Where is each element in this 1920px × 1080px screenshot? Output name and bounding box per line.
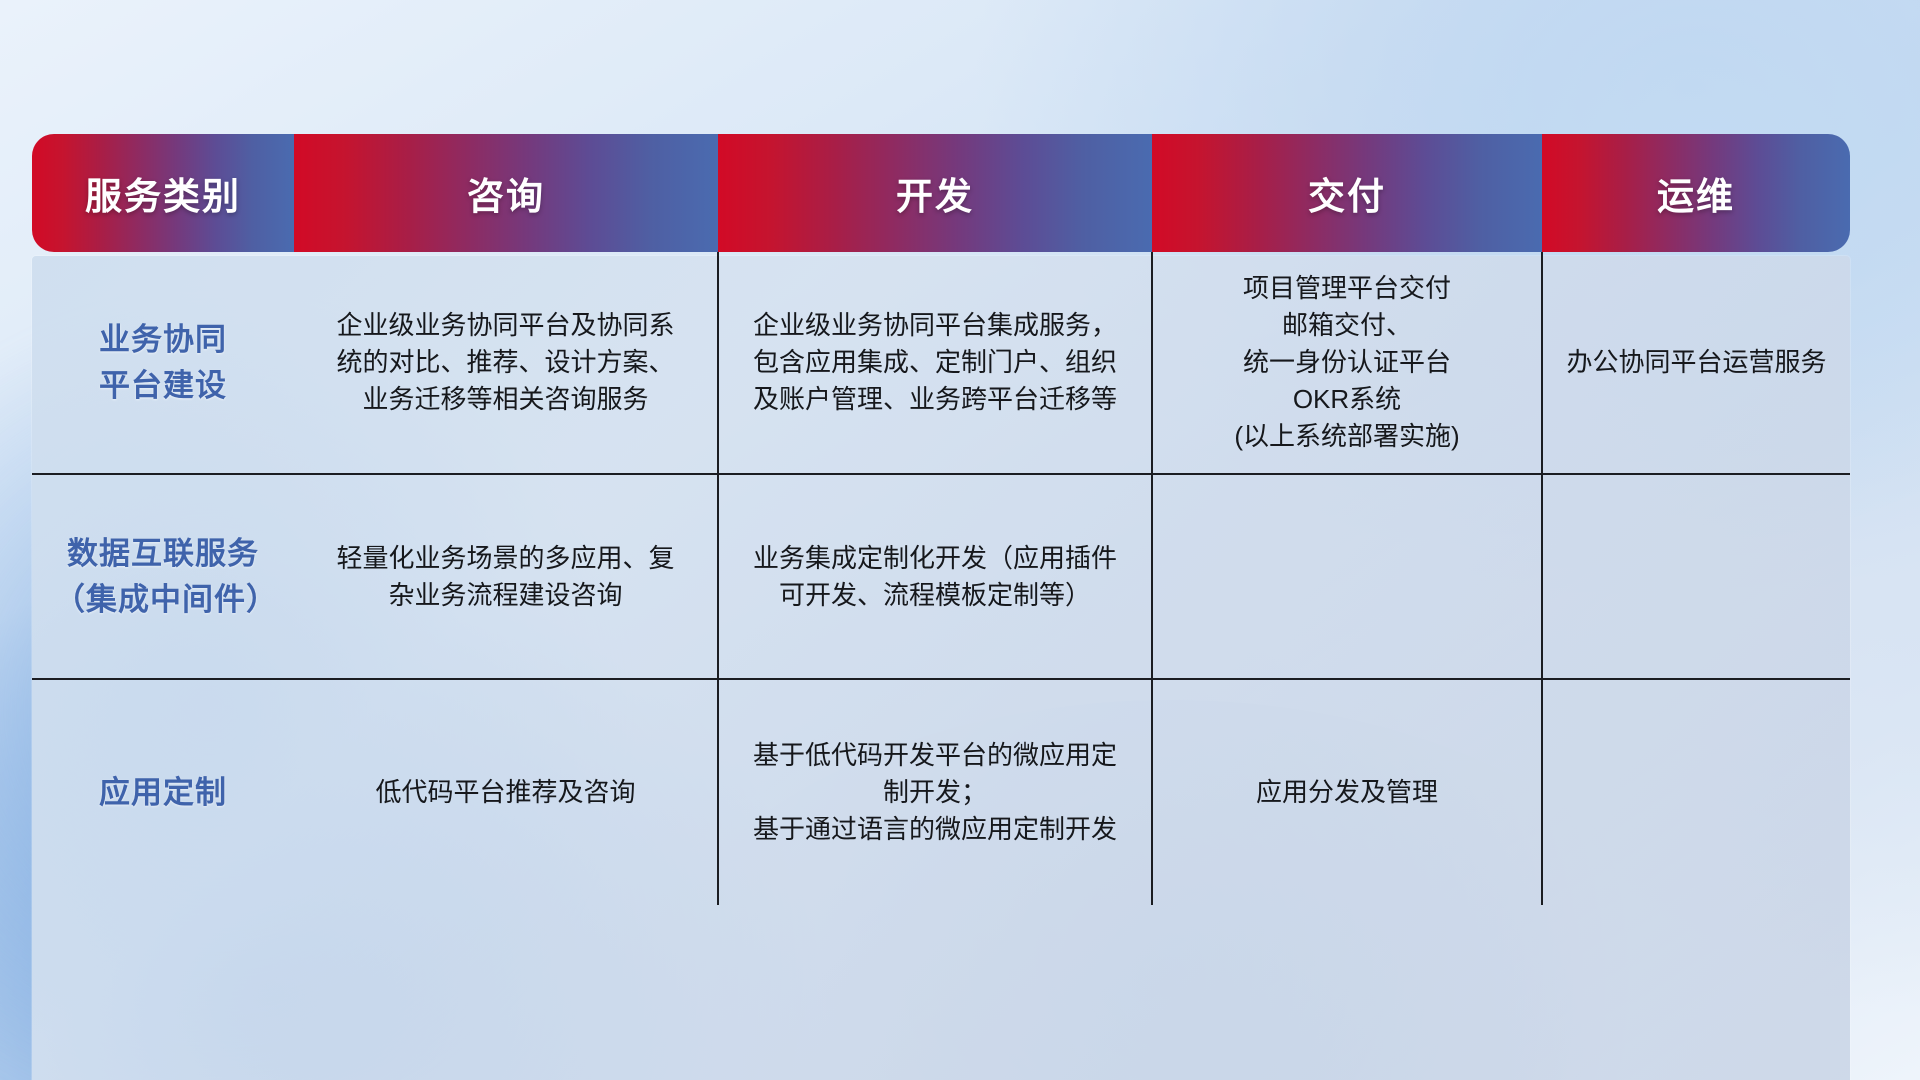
cell-delivery-1: 项目管理平台交付 邮箱交付、 统一身份认证平台 OKR系统 (以上系统部署实施) [1152,252,1542,474]
cell-consulting-3: 低代码平台推荐及咨询 [294,679,718,905]
cell-category-2: 数据互联服务 （集成中间件） [32,474,294,679]
table-row: 应用定制 低代码平台推荐及咨询 基于低代码开发平台的微应用定 制开发； 基于通过… [32,679,1850,905]
cell-delivery-2 [1152,474,1542,679]
cell-development-2: 业务集成定制化开发（应用插件 可开发、流程模板定制等） [718,474,1152,679]
table-row: 业务协同 平台建设 企业级业务协同平台及协同系 统的对比、推荐、设计方案、 业务… [32,252,1850,474]
cell-consulting-2: 轻量化业务场景的多应用、复 杂业务流程建设咨询 [294,474,718,679]
cell-operations-2 [1542,474,1850,679]
cell-operations-3 [1542,679,1850,905]
table-body: 业务协同 平台建设 企业级业务协同平台及协同系 统的对比、推荐、设计方案、 业务… [32,252,1850,905]
cell-operations-1: 办公协同平台运营服务 [1542,252,1850,474]
service-matrix: 服务类别 咨询 开发 交付 运维 业务协同 平台建设 企业级业务协同平台及协同系… [32,134,1850,958]
cell-delivery-3: 应用分发及管理 [1152,679,1542,905]
header-row: 服务类别 咨询 开发 交付 运维 [32,134,1850,252]
cell-development-3: 基于低代码开发平台的微应用定 制开发； 基于通过语言的微应用定制开发 [718,679,1152,905]
cell-category-3: 应用定制 [32,679,294,905]
cell-development-1: 企业级业务协同平台集成服务， 包含应用集成、定制门户、组织 及账户管理、业务跨平… [718,252,1152,474]
column-header-development: 开发 [718,134,1152,252]
table-header: 服务类别 咨询 开发 交付 运维 [32,134,1850,252]
column-header-consulting: 咨询 [294,134,718,252]
cell-consulting-1: 企业级业务协同平台及协同系 统的对比、推荐、设计方案、 业务迁移等相关咨询服务 [294,252,718,474]
cell-category-1: 业务协同 平台建设 [32,252,294,474]
table-row: 数据互联服务 （集成中间件） 轻量化业务场景的多应用、复 杂业务流程建设咨询 业… [32,474,1850,679]
column-header-category: 服务类别 [32,134,294,252]
column-header-operations: 运维 [1542,134,1850,252]
column-header-delivery: 交付 [1152,134,1542,252]
service-category-table: 服务类别 咨询 开发 交付 运维 业务协同 平台建设 企业级业务协同平台及协同系… [32,134,1850,905]
